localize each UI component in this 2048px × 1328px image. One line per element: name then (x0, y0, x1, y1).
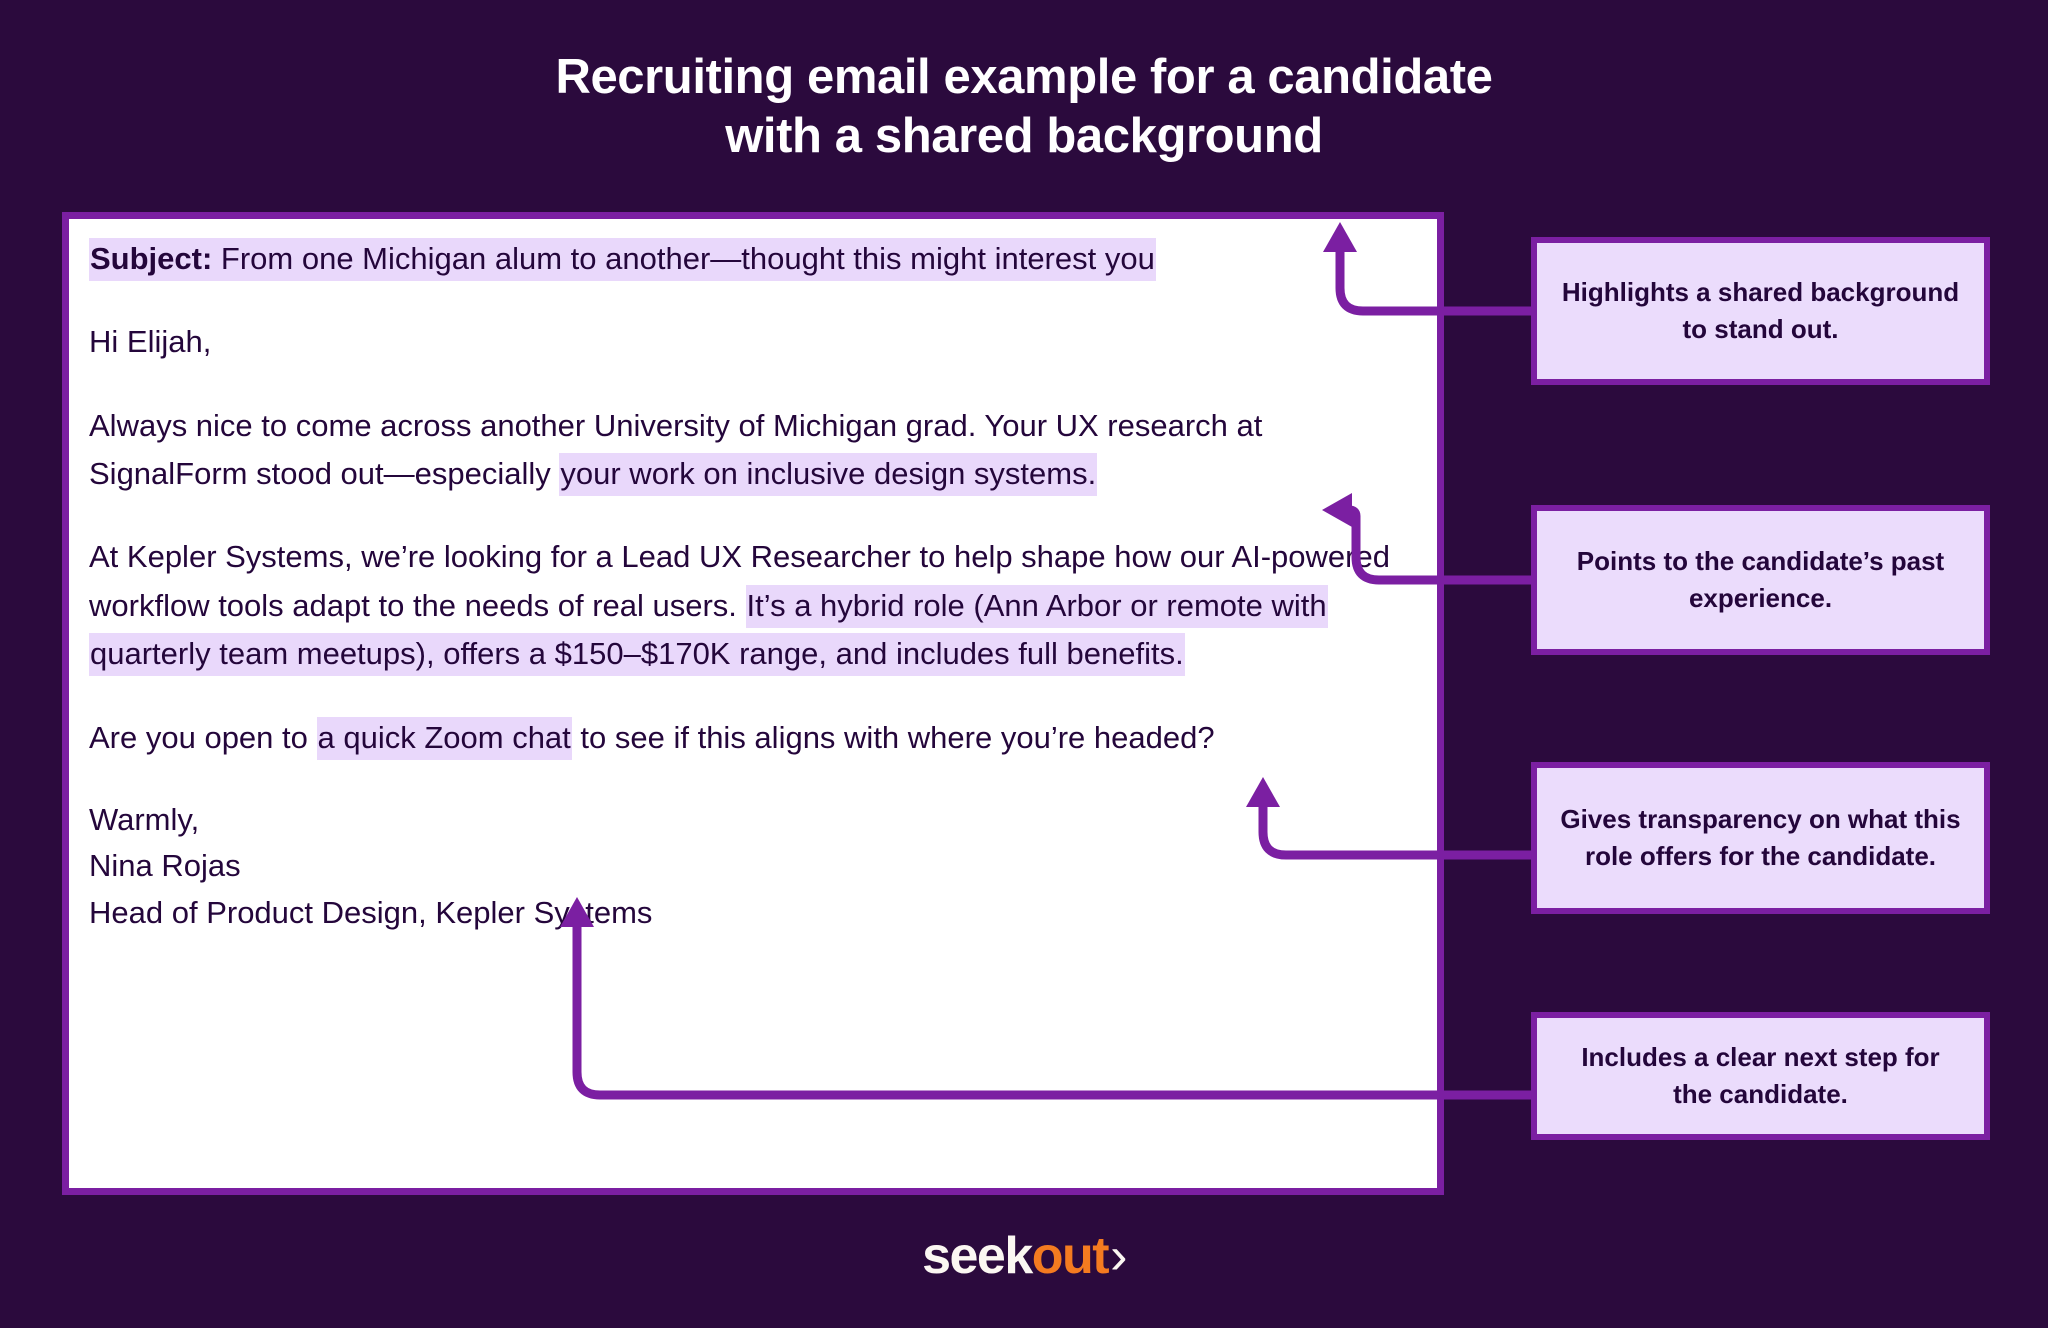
email-greeting: Hi Elijah, (89, 318, 1421, 366)
email-example-card: Subject: From one Michigan alum to anoth… (62, 212, 1444, 1195)
email-subject-text: From one Michigan alum to another—though… (212, 241, 1155, 276)
email-paragraph-4: Are you open to a quick Zoom chat to see… (89, 714, 1421, 762)
callout-1-text: Highlights a shared background to stand … (1559, 274, 1962, 349)
logo-text-out: out (1032, 1227, 1108, 1285)
email-subject-label: Subject: (90, 241, 212, 276)
email-paragraph-4-highlight: a quick Zoom chat (317, 717, 572, 760)
seekout-logo: seekout› (0, 1230, 2048, 1282)
email-paragraph-2: Always nice to come across another Unive… (89, 402, 1421, 499)
callout-3-text: Gives transparency on what this role off… (1559, 801, 1962, 876)
callout-highlights-shared-background: Highlights a shared background to stand … (1531, 237, 1990, 385)
page-title: Recruiting email example for a candidate… (0, 48, 2048, 166)
page-title-line-2: with a shared background (0, 107, 2048, 166)
email-paragraph-3: At Kepler Systems, we’re looking for a L… (89, 533, 1421, 678)
infographic-canvas: Recruiting email example for a candidate… (0, 0, 2048, 1328)
email-paragraph-4-before: Are you open to (89, 720, 317, 755)
chevron-right-icon: › (1110, 1227, 1126, 1285)
email-body: Subject: From one Michigan alum to anoth… (89, 235, 1421, 936)
callout-clear-next-step: Includes a clear next step for the candi… (1531, 1012, 1990, 1140)
email-sender-title: Head of Product Design, Kepler Systems (89, 890, 1421, 937)
callout-points-to-past-experience: Points to the candidate’s past experienc… (1531, 505, 1990, 655)
callout-2-text: Points to the candidate’s past experienc… (1559, 543, 1962, 618)
email-subject-line: Subject: From one Michigan alum to anoth… (89, 235, 1421, 283)
email-paragraph-2-highlight: your work on inclusive design systems. (559, 453, 1097, 496)
page-title-line-1: Recruiting email example for a candidate (0, 48, 2048, 107)
email-paragraph-4-after: to see if this aligns with where you’re … (572, 720, 1215, 755)
email-sender-name: Nina Rojas (89, 843, 1421, 890)
email-signoff: Warmly, (89, 797, 1421, 844)
callout-4-text: Includes a clear next step for the candi… (1559, 1039, 1962, 1114)
logo-text-seek: seek (922, 1227, 1032, 1285)
callout-gives-transparency: Gives transparency on what this role off… (1531, 762, 1990, 914)
